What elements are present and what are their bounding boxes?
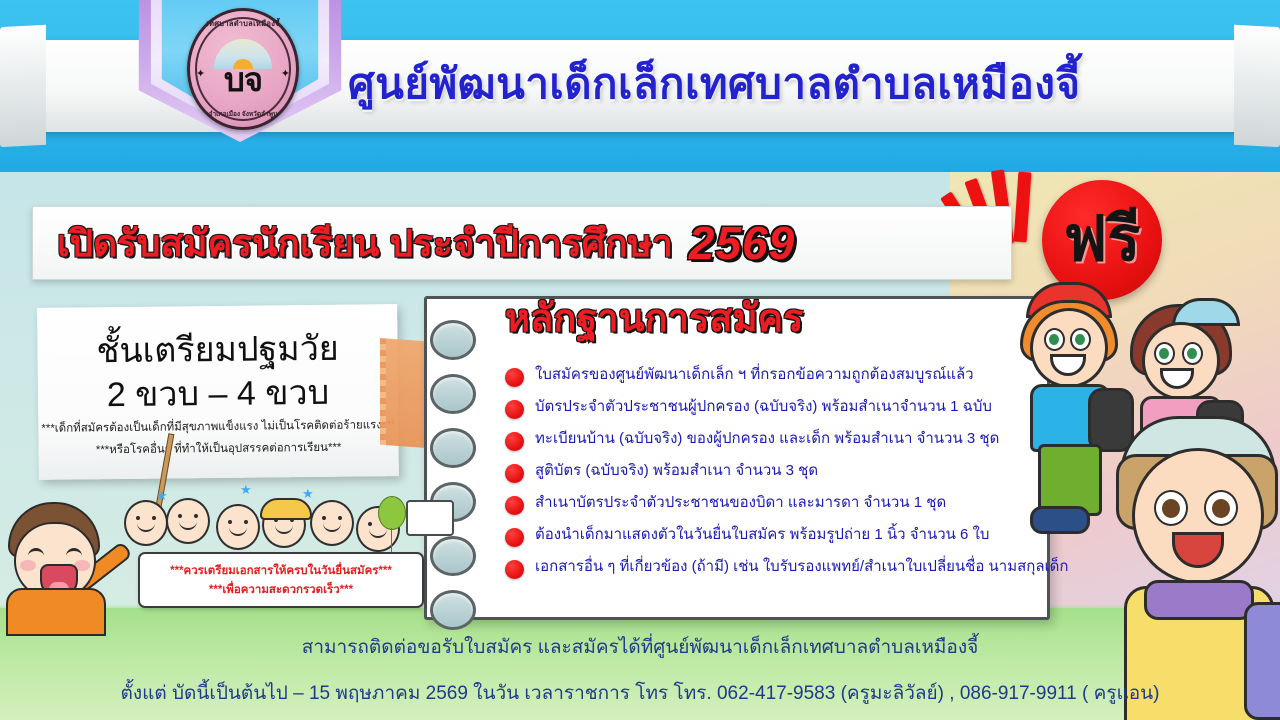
child-eye xyxy=(368,522,372,526)
document-requirement-text: ต้องนำเด็กมาแสดงตัวในวันยื่นใบสมัคร พร้อ… xyxy=(535,526,989,543)
binder-ring-icon xyxy=(430,374,476,414)
pupil xyxy=(1049,334,1059,345)
academic-year: 2569 xyxy=(689,220,795,266)
child-hat-icon xyxy=(260,498,312,520)
footer-schedule-line: ตั้งแต่ บัดนี้เป็นต้นไป – 15 พฤษภาคม 256… xyxy=(0,678,1280,708)
preparation-note-box: ***ควรเตรียมเอกสารให้ครบในวันยื่นสมัคร**… xyxy=(138,552,424,608)
schoolboy-eye-right xyxy=(1070,328,1091,351)
schoolboy-head xyxy=(1030,308,1108,388)
bullet-dot-icon xyxy=(505,432,524,451)
document-requirement-text: เอกสารอื่น ๆ ที่เกี่ยวข้อง (ถ้ามี) เช่น … xyxy=(535,558,1068,575)
child-head-icon xyxy=(166,498,210,544)
bullet-dot-icon xyxy=(505,464,524,483)
tape-strip-icon xyxy=(380,338,426,448)
child-eye xyxy=(244,520,248,524)
bullet-dot-icon xyxy=(505,496,524,515)
child-eye xyxy=(228,520,232,524)
binder-ring-icon xyxy=(430,428,476,468)
seal-star-left-icon: ✦ xyxy=(196,67,205,80)
footer-contact-line: สามารถติดต่อขอรับใบสมัคร และสมัครได้ที่ศ… xyxy=(0,632,1280,662)
municipality-seal-icon: เทศบาลตำบลเหมืองจี้ บจ ✦ ✦ อำเภอเมือง จั… xyxy=(187,8,299,130)
child-eye xyxy=(274,518,278,522)
poster-root: เทศบาลตำบลเหมืองจี้ บจ ✦ ✦ อำเภอเมือง จั… xyxy=(0,0,1280,720)
document-requirement-item: เอกสารอื่น ๆ ที่เกี่ยวข้อง (ถ้ามี) เช่น … xyxy=(505,558,1065,579)
bullet-dot-icon xyxy=(505,400,524,419)
age-range-label: 2 ขวบ – 4 ขวบ xyxy=(38,364,399,422)
health-note-line2: ***หรือโรคอื่นๆ ที่ทำให้เป็นอุปสรรคต่อกา… xyxy=(39,438,399,460)
foreground-child-collar xyxy=(1144,580,1254,620)
pupil xyxy=(1212,499,1230,518)
pupil xyxy=(1187,348,1197,359)
logo-shield: เทศบาลตำบลเหมืองจี้ บจ ✦ ✦ อำเภอเมือง จั… xyxy=(125,0,355,150)
announcement-banner-inner: เปิดรับสมัครนักเรียน ประจำปีการศึกษา 256… xyxy=(33,207,1011,279)
foreground-child-illustration xyxy=(1098,420,1280,720)
binder-ring-icon xyxy=(430,590,476,630)
preparation-note-line2: ***เพื่อความสะดวกรวดเร็ว*** xyxy=(140,581,422,599)
binder-ring-icon xyxy=(430,536,476,576)
pupil xyxy=(1075,334,1085,345)
star-icon: ★ xyxy=(156,488,168,504)
child-eye xyxy=(290,518,294,522)
schoolgirl-eye-right xyxy=(1182,342,1203,365)
child-eye xyxy=(322,516,326,520)
document-requirement-item: ทะเบียนบ้าน (ฉบับจริง) ของผู้ปกครอง และเ… xyxy=(505,430,1065,451)
balloon-icon xyxy=(378,496,406,530)
child-eye xyxy=(152,516,156,520)
seal-monogram: บจ xyxy=(215,63,271,97)
drawing-flag-icon xyxy=(406,500,454,536)
documents-list: ใบสมัครของศูนย์พัฒนาเด็กเล็ก ฯ ที่กรอกข้… xyxy=(505,366,1065,590)
document-requirement-text: ทะเบียนบ้าน (ฉบับจริง) ของผู้ปกครอง และเ… xyxy=(535,430,999,447)
announcement-banner: เปิดรับสมัครนักเรียน ประจำปีการศึกษา 256… xyxy=(32,206,1012,280)
header: เทศบาลตำบลเหมืองจี้ บจ ✦ ✦ อำเภอเมือง จั… xyxy=(0,0,1280,172)
document-requirement-item: สำเนาบัตรประจำตัวประชาชนของบิดา และมารดา… xyxy=(505,494,1065,515)
preparation-note-line1: ***ควรเตรียมเอกสารให้ครบในวันยื่นสมัคร**… xyxy=(140,562,422,580)
document-requirement-item: บัตรประจำตัวประชาชนผู้ปกครอง (ฉบับจริง) … xyxy=(505,398,1065,419)
pupil xyxy=(1162,499,1180,518)
schoolgirl-eye-left xyxy=(1154,342,1175,365)
child-head-icon xyxy=(310,500,354,546)
pupil xyxy=(1159,348,1169,359)
boy-body xyxy=(6,588,106,636)
bullet-dot-icon xyxy=(505,368,524,387)
document-requirement-text: สูติบัตร (ฉบับจริง) พร้อมสำเนา จำนวน 3 ช… xyxy=(535,462,818,479)
seal-top-text: เทศบาลตำบลเหมืองจี้ xyxy=(190,18,296,30)
binder-rings-icon xyxy=(430,320,490,610)
child-eye xyxy=(194,514,198,518)
child-head-icon xyxy=(124,500,168,546)
page-title: ศูนย์พัฒนาเด็กเล็กเทศบาลตำบลเหมืองจี้ xyxy=(348,63,1228,105)
bullet-dot-icon xyxy=(505,560,524,579)
seal-bottom-text: อำเภอเมือง จังหวัดลำพูน xyxy=(190,109,296,119)
teacher-boy-illustration xyxy=(0,500,130,620)
child-head-icon xyxy=(216,504,260,550)
health-note-line1: ***เด็กที่สมัครต้องเป็นเด็กที่มีสุขภาพแข… xyxy=(38,416,398,438)
schoolboy-shoe xyxy=(1030,506,1090,534)
document-requirement-item: ต้องนำเด็กมาแสดงตัวในวันยื่นใบสมัคร พร้อ… xyxy=(505,526,1065,547)
star-icon: ★ xyxy=(240,482,252,498)
binder-ring-icon xyxy=(430,320,476,360)
boy-cheek-left xyxy=(20,560,36,571)
bullet-dot-icon xyxy=(505,528,524,547)
documents-title: หลักฐานการสมัคร xyxy=(505,300,1025,338)
child-eye xyxy=(338,516,342,520)
boy-eye-right xyxy=(66,548,82,559)
foreground-child-eye-left xyxy=(1154,490,1188,526)
document-requirement-item: สูติบัตร (ฉบับจริง) พร้อมสำเนา จำนวน 3 ช… xyxy=(505,462,1065,483)
schoolboy-eye-left xyxy=(1044,328,1065,351)
free-badge-label: ฟรี xyxy=(1063,209,1140,271)
document-requirement-item: ใบสมัครของศูนย์พัฒนาเด็กเล็ก ฯ ที่กรอกข้… xyxy=(505,366,1065,387)
child-eye xyxy=(136,516,140,520)
child-head-icon xyxy=(262,502,306,548)
announcement-text: เปิดรับสมัครนักเรียน ประจำปีการศึกษา xyxy=(57,225,673,262)
document-requirement-text: ใบสมัครของศูนย์พัฒนาเด็กเล็ก ฯ ที่กรอกข้… xyxy=(535,366,974,383)
age-info-card: ชั้นเตรียมปฐมวัย 2 ขวบ – 4 ขวบ ***เด็กที… xyxy=(37,304,399,480)
seal-star-right-icon: ✦ xyxy=(281,67,290,80)
foreground-child-eye-right xyxy=(1204,490,1238,526)
boy-eye-left xyxy=(28,548,44,559)
child-eye xyxy=(178,514,182,518)
ray xyxy=(1014,172,1032,243)
document-requirement-text: สำเนาบัตรประจำตัวประชาชนของบิดา และมารดา… xyxy=(535,494,946,511)
star-icon: ★ xyxy=(302,486,314,502)
document-requirement-text: บัตรประจำตัวประชาชนผู้ปกครอง (ฉบับจริง) … xyxy=(535,398,992,415)
